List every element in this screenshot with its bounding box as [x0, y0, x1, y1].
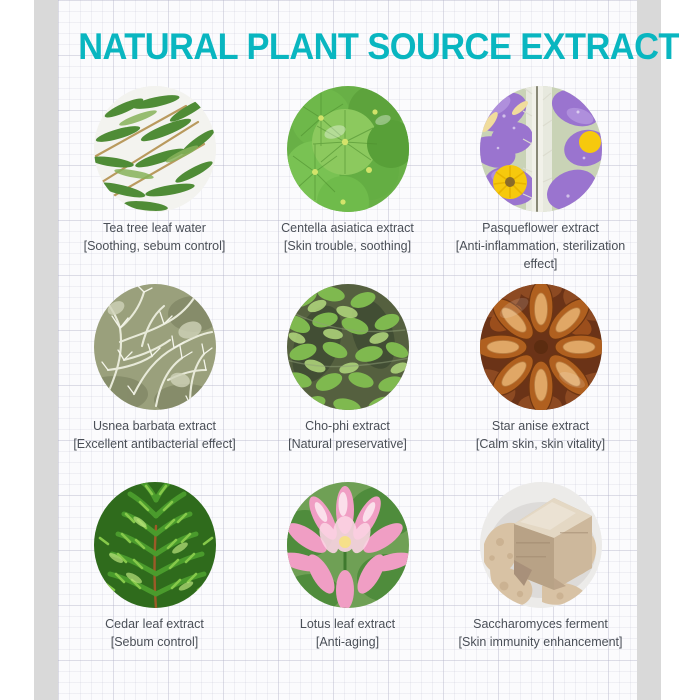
ingredient-benefit: [Anti-inflammation, sterilization effect… [446, 238, 636, 274]
caption-tea-tree-leaf-water: Tea tree leaf water [Soothing, sebum con… [84, 220, 226, 256]
ingredient-name: Tea tree leaf water [84, 220, 226, 238]
yeast-block-icon [480, 482, 602, 608]
tea-tree-leaves-icon [94, 86, 216, 212]
right-white-margin [666, 0, 700, 700]
ingredient-name: Lotus leaf extract [300, 616, 395, 634]
caption-saccharomyces-ferment: Saccharomyces ferment [Skin immunity enh… [446, 616, 636, 652]
poster-root: NATURAL PLANT SOURCE EXTRACT [0, 0, 700, 700]
cho-phi-foliage-icon [287, 284, 409, 410]
ingredient-name: Cedar leaf extract [105, 616, 204, 634]
ingredient-benefit: [Soothing, sebum control] [84, 238, 226, 256]
centella-round-leaves-icon [287, 86, 409, 212]
ingredient-card-centella-asiatica-extract[interactable]: Centella asiatica extract [Skin trouble,… [251, 78, 444, 276]
star-anise-pod-icon [480, 284, 602, 410]
caption-cho-phi-extract: Cho-phi extract [Natural preservative] [288, 418, 407, 454]
ingredient-name: Saccharomyces ferment [446, 616, 636, 634]
ingredient-name: Pasqueflower extract [446, 220, 636, 238]
ingredient-card-tea-tree-leaf-water[interactable]: Tea tree leaf water [Soothing, sebum con… [58, 78, 251, 276]
ingredient-benefit: [Skin trouble, soothing] [281, 238, 414, 256]
ingredient-name: Usnea barbata extract [73, 418, 235, 436]
caption-star-anise-extract: Star anise extract [Calm skin, skin vita… [476, 418, 605, 454]
ingredient-name: Centella asiatica extract [281, 220, 414, 238]
caption-cedar-leaf-extract: Cedar leaf extract [Sebum control] [105, 616, 204, 652]
page-title: NATURAL PLANT SOURCE EXTRACT [78, 26, 616, 68]
left-white-margin [0, 0, 34, 700]
ingredient-card-star-anise-extract[interactable]: Star anise extract [Calm skin, skin vita… [444, 276, 637, 474]
ingredient-benefit: [Sebum control] [105, 634, 204, 652]
pasqueflower-purple-icon [480, 86, 602, 212]
ingredient-card-usnea-barbata-extract[interactable]: Usnea barbata extract [Excellent antibac… [58, 276, 251, 474]
ingredient-benefit: [Natural preservative] [288, 436, 407, 454]
caption-usnea-barbata-extract: Usnea barbata extract [Excellent antibac… [73, 418, 235, 454]
usnea-lichen-icon [94, 284, 216, 410]
ingredient-card-lotus-leaf-extract[interactable]: Lotus leaf extract [Anti-aging] [251, 474, 444, 672]
caption-centella-asiatica-extract: Centella asiatica extract [Skin trouble,… [281, 220, 414, 256]
ingredient-grid: Tea tree leaf water [Soothing, sebum con… [58, 78, 637, 672]
ingredient-card-pasqueflower-extract[interactable]: Pasqueflower extract [Anti-inflammation,… [444, 78, 637, 276]
caption-pasqueflower-extract: Pasqueflower extract [Anti-inflammation,… [446, 220, 636, 273]
ingredient-card-cho-phi-extract[interactable]: Cho-phi extract [Natural preservative] [251, 276, 444, 474]
cedar-foliage-icon [94, 482, 216, 608]
right-gray-band [637, 0, 661, 700]
ingredient-benefit: [Skin immunity enhancement] [446, 634, 636, 652]
ingredient-name: Cho-phi extract [288, 418, 407, 436]
ingredient-card-cedar-leaf-extract[interactable]: Cedar leaf extract [Sebum control] [58, 474, 251, 672]
ingredient-card-saccharomyces-ferment[interactable]: Saccharomyces ferment [Skin immunity enh… [444, 474, 637, 672]
caption-lotus-leaf-extract: Lotus leaf extract [Anti-aging] [300, 616, 395, 652]
ingredient-benefit: [Calm skin, skin vitality] [476, 436, 605, 454]
ingredient-name: Star anise extract [476, 418, 605, 436]
ingredient-benefit: [Anti-aging] [300, 634, 395, 652]
left-gray-band [34, 0, 58, 700]
lotus-flower-icon [287, 482, 409, 608]
ingredient-benefit: [Excellent antibacterial effect] [73, 436, 235, 454]
